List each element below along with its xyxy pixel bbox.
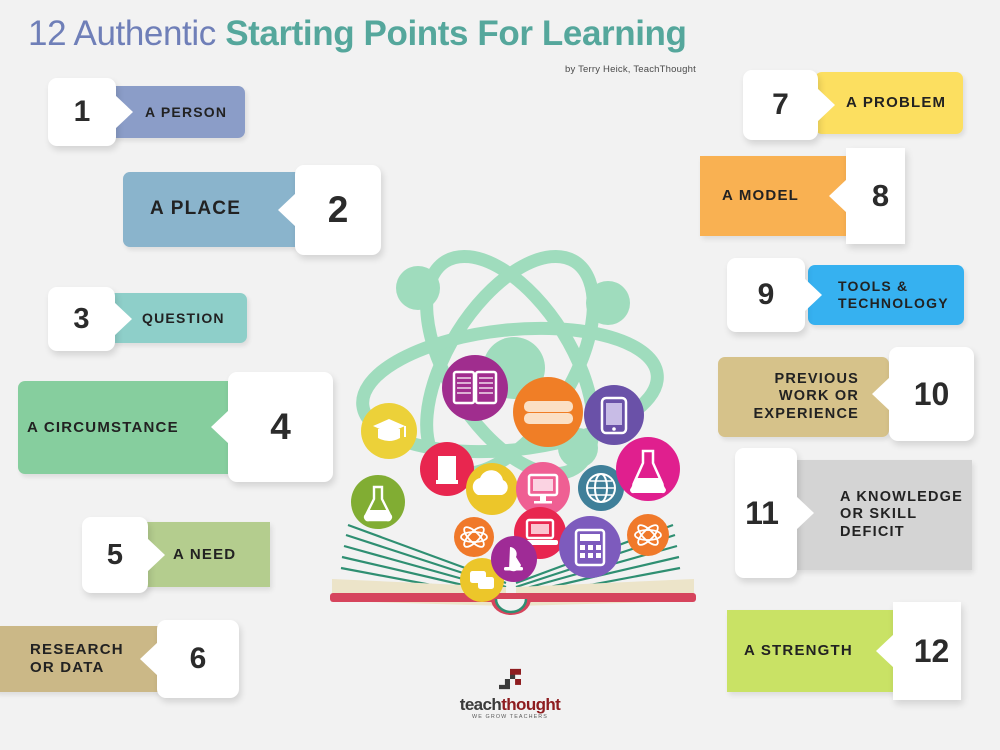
item-10-label: PREVIOUS WORK OR EXPERIENCE	[754, 371, 859, 422]
item-1-number: 1	[74, 95, 91, 129]
item-4-label: A CIRCUMSTANCE	[27, 419, 179, 437]
item-11-bar: A KNOWLEDGE OR SKILL DEFICIT	[795, 460, 972, 570]
arrow-left-icon	[140, 642, 158, 676]
central-illustration	[318, 235, 708, 615]
open-book-icon	[442, 355, 508, 421]
item-8-label: A MODEL	[722, 187, 799, 205]
arrow-left-icon	[278, 193, 296, 227]
logo-wordmark: teachthought	[455, 696, 565, 713]
arrow-left-icon	[872, 377, 890, 411]
item-2-number: 2	[328, 189, 349, 231]
logo-mark-icon	[492, 668, 528, 690]
byline: by Terry Heick, TeachThought	[565, 64, 696, 75]
item-8-number: 8	[872, 178, 889, 214]
arrow-left-icon	[211, 410, 229, 444]
item-12-bar: A STRENGTH	[727, 610, 895, 692]
logo-word-teach: teach	[460, 695, 501, 714]
infographic-canvas: 12 Authentic Starting Points For Learnin…	[0, 0, 1000, 750]
flask-icon	[616, 437, 680, 501]
item-2-label: A PLACE	[150, 198, 241, 220]
beaker-icon	[351, 475, 405, 529]
arrow-right-icon	[817, 88, 835, 122]
item-1-label: A PERSON	[145, 104, 227, 121]
item-6-number-card: 6	[157, 620, 239, 698]
calculator-icon	[559, 516, 621, 578]
item-3-number: 3	[73, 303, 89, 336]
page-title: 12 Authentic Starting Points For Learnin…	[28, 14, 687, 54]
tablet-icon	[584, 385, 644, 445]
cloud-icon	[466, 463, 518, 515]
item-9-number: 9	[758, 278, 775, 312]
item-7-number: 7	[772, 88, 789, 122]
item-6-number: 6	[190, 642, 207, 676]
arrow-right-icon	[796, 496, 814, 530]
arrow-left-icon	[876, 634, 894, 668]
item-6-label: RESEARCH OR DATA	[30, 641, 124, 676]
item-9-number-card: 9	[727, 258, 805, 332]
item-5-number: 5	[107, 539, 123, 572]
item-7-bar: A PROBLEM	[815, 72, 963, 134]
item-1-number-card: 1	[48, 78, 116, 146]
title-part-one: 12 Authentic	[28, 14, 216, 53]
item-11-number-card: 11	[735, 448, 797, 578]
arrow-right-icon	[115, 95, 133, 129]
item-8-number-card: 8	[846, 148, 905, 244]
atom-small2-icon	[627, 514, 669, 556]
closed-book-icon	[420, 442, 474, 496]
item-5-number-card: 5	[82, 517, 148, 593]
item-7-number-card: 7	[743, 70, 818, 140]
item-12-number: 12	[914, 633, 950, 670]
arrow-left-icon	[829, 179, 847, 213]
item-5-label: A NEED	[173, 546, 236, 564]
book-stack-icon	[513, 377, 583, 447]
item-12-label: A STRENGTH	[744, 642, 853, 660]
logo-tagline: WE GROW TEACHERS	[455, 714, 565, 720]
arrow-right-icon	[804, 278, 822, 312]
item-11-label: A KNOWLEDGE OR SKILL DEFICIT	[840, 489, 963, 540]
graduation-cap-icon	[361, 403, 417, 459]
item-3-number-card: 3	[48, 287, 115, 351]
arrow-right-icon	[147, 538, 165, 572]
teachthought-logo: teachthought WE GROW TEACHERS	[455, 668, 565, 720]
item-11-number: 11	[745, 495, 779, 532]
atom-small-icon	[454, 517, 494, 557]
title-part-two: Starting Points For Learning	[225, 14, 686, 53]
arrow-right-icon	[114, 302, 132, 336]
item-4-number: 4	[270, 406, 291, 448]
logo-word-thought: thought	[501, 695, 560, 714]
item-10-number: 10	[914, 376, 950, 413]
item-10-bar: PREVIOUS WORK OR EXPERIENCE	[718, 357, 889, 437]
item-3-label: QUESTION	[142, 310, 225, 327]
item-10-number-card: 10	[889, 347, 974, 441]
microscope-icon-final	[491, 536, 537, 582]
atom-book-illustration	[318, 235, 708, 615]
item-12-number-card: 12	[893, 602, 961, 700]
item-7-label: A PROBLEM	[846, 94, 946, 112]
item-8-bar: A MODEL	[700, 156, 848, 236]
item-9-label: TOOLS & TECHNOLOGY	[838, 278, 949, 311]
item-9-bar: TOOLS & TECHNOLOGY	[808, 265, 964, 325]
